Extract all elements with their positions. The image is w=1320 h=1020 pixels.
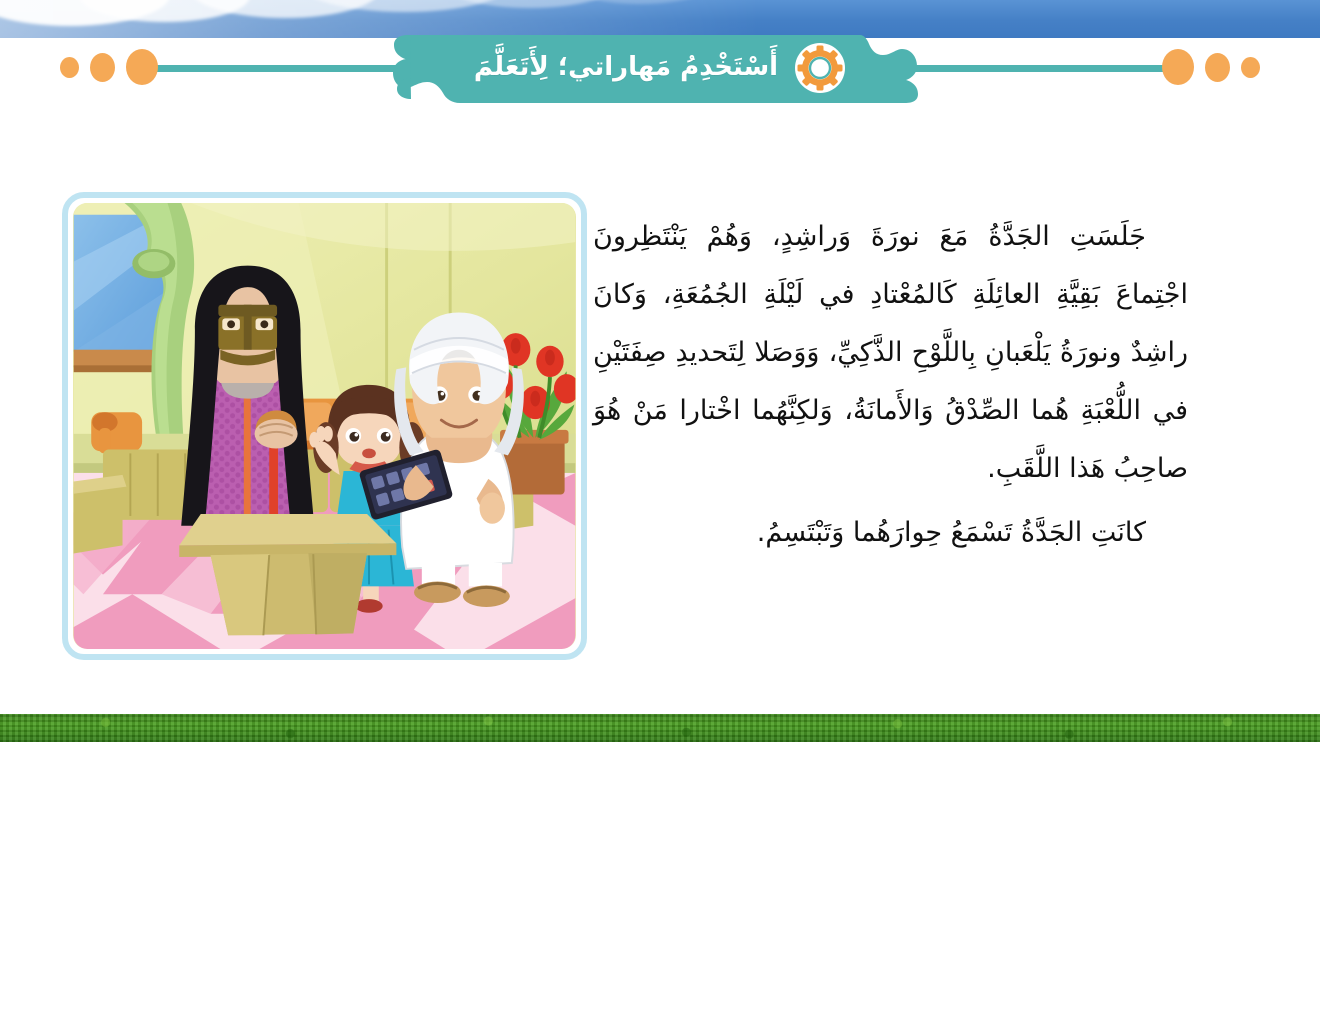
main-content: جَلَسَتِ الجَدَّةُ مَعَ نورَةَ وَراشِدٍ،… (0, 150, 1320, 690)
decor-dot-large-icon (126, 49, 158, 85)
page-title: أَسْتَخْدِمُ مَهاراتي؛ لِأَتَعَلَّمَ (474, 53, 778, 83)
header-banner: أَسْتَخْدِمُ مَهاراتي؛ لِأَتَعَلَّمَ (0, 33, 1320, 105)
decor-dot-small-icon (1241, 57, 1260, 78)
banner-rule-right (895, 65, 1170, 72)
decor-dot-small-icon (60, 57, 79, 78)
decor-dots-right (1162, 49, 1260, 85)
page-bottom-margin (0, 742, 1320, 1020)
passage-paragraph: جَلَسَتِ الجَدَّةُ مَعَ نورَةَ وَراشِدٍ،… (593, 208, 1188, 498)
decor-dots-left (60, 49, 158, 85)
page-root: أَسْتَخْدِمُ مَهاراتي؛ لِأَتَعَلَّمَ (0, 0, 1320, 1020)
reading-passage: جَلَسَتِ الجَدَّةُ مَعَ نورَةَ وَراشِدٍ،… (593, 208, 1188, 568)
illustration-image (73, 203, 576, 649)
gear-icon (794, 42, 846, 94)
grass-decoration-band (0, 714, 1320, 742)
title-plaque: أَسْتَخْدِمُ مَهاراتي؛ لِأَتَعَلَّمَ (390, 33, 930, 105)
grass-texture (0, 714, 1320, 742)
decor-dot-medium-icon (90, 53, 115, 82)
passage-paragraph: كانَتِ الجَدَّةُ تَسْمَعُ حِوارَهُما وَت… (593, 504, 1188, 562)
decor-dot-medium-icon (1205, 53, 1230, 82)
banner-rule-left (150, 65, 425, 72)
illustration-frame (62, 192, 587, 660)
decor-dot-large-icon (1162, 49, 1194, 85)
